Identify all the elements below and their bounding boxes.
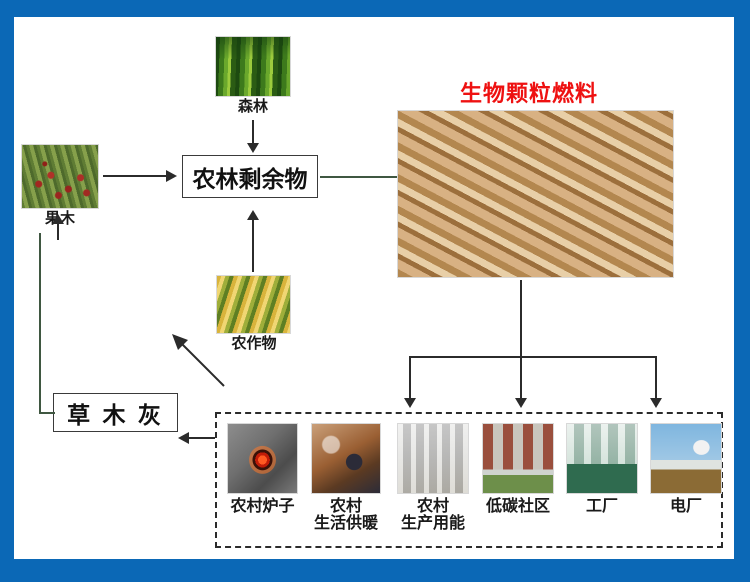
- box-forestry-residue-label: 农林剩余物: [193, 160, 308, 194]
- box-plant-ash: 草 木 灰: [53, 393, 178, 432]
- diagram-canvas: 森林 果木 农林剩余物 农作物 草 木 灰 生物颗粒燃料: [0, 0, 750, 582]
- fruit-tree-photo: [21, 144, 99, 209]
- low-carbon-community-label: 低碳社区: [468, 498, 568, 515]
- connector-applications-to-ash: [188, 437, 216, 439]
- rural-stove-photo: [227, 423, 298, 494]
- connector-ash-to-crops: [168, 330, 228, 390]
- rural-stove-label: 农村炉子: [213, 498, 312, 515]
- arrowhead-applications-to-ash: [178, 432, 189, 444]
- low-carbon-community-photo: [482, 423, 554, 494]
- connector-crops-to-residue: [252, 218, 254, 272]
- box-plant-ash-label: 草 木 灰: [67, 396, 164, 430]
- frame-right-border: [734, 0, 750, 582]
- rural-production-photo: [397, 423, 469, 494]
- connector-branch-center: [520, 356, 522, 401]
- frame-left-border: [0, 0, 14, 582]
- connector-branch-left: [409, 356, 411, 401]
- box-forestry-residue: 农林剩余物: [182, 155, 318, 198]
- forest-label: 森林: [205, 99, 301, 115]
- wood-pellet-photo: [397, 110, 674, 278]
- connector-product-bus: [409, 356, 657, 358]
- connector-ash-to-fruitwood: [57, 222, 59, 240]
- rural-heating-label: 农村 生活供暖: [301, 498, 391, 533]
- arrowhead-ash-to-fruitwood: [52, 214, 64, 224]
- factory-label: 工厂: [562, 498, 642, 515]
- connector-ash-elbow-v: [39, 233, 41, 413]
- arrowhead-branch-center: [515, 398, 527, 408]
- arrowhead-fruitwood-to-residue: [166, 170, 177, 182]
- arrowhead-forest-to-residue: [247, 143, 259, 153]
- rural-production-label: 农村 生产用能: [387, 498, 479, 533]
- rural-heating-photo: [311, 423, 381, 494]
- connector-product-trunk: [520, 280, 522, 358]
- power-plant-label: 电厂: [646, 498, 726, 515]
- arrowhead-branch-left: [404, 398, 416, 408]
- connector-branch-right: [655, 356, 657, 401]
- crops-photo: [216, 275, 291, 334]
- arrowhead-branch-right: [650, 398, 662, 408]
- forest-photo: [215, 36, 291, 97]
- arrowhead-crops-to-residue: [247, 210, 259, 220]
- connector-ash-elbow-h: [39, 412, 55, 414]
- connector-residue-to-product: [320, 176, 398, 178]
- frame-bottom-border: [0, 559, 750, 582]
- product-title: 生物颗粒燃料: [460, 76, 598, 108]
- frame-top-border: [0, 0, 750, 17]
- factory-photo: [566, 423, 638, 494]
- power-plant-photo: [650, 423, 722, 494]
- connector-fruitwood-to-residue: [103, 175, 167, 177]
